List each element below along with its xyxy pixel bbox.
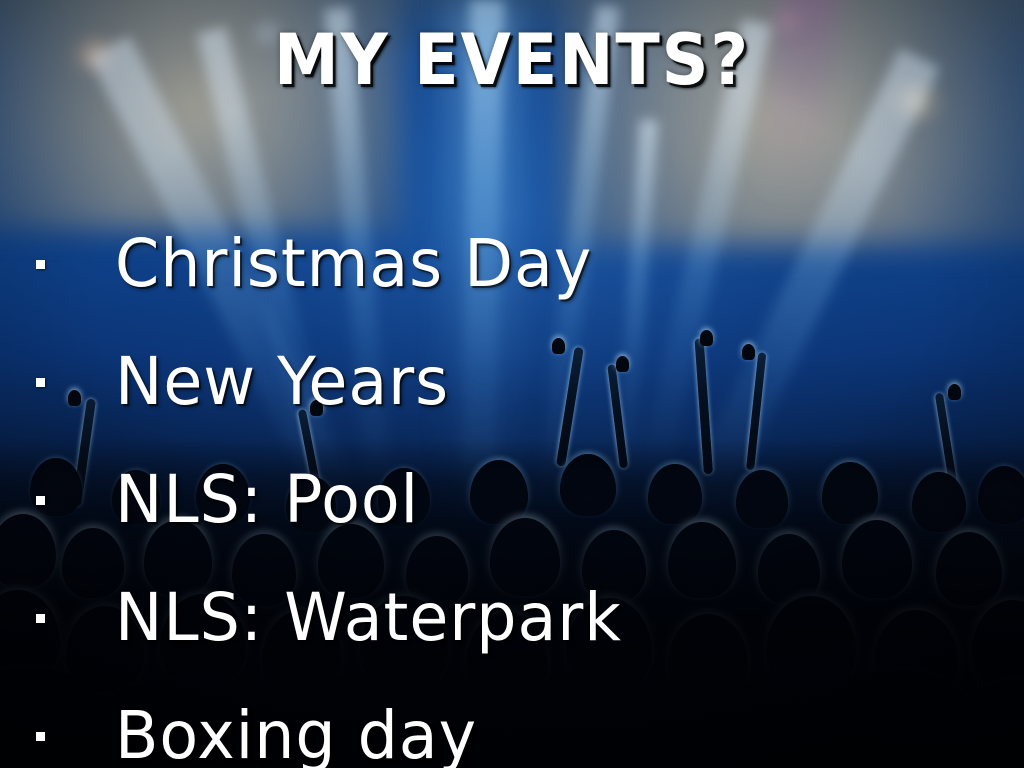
list-item-label: NLS: Waterpark — [115, 585, 622, 651]
presentation-slide: MY EVENTS? Christmas Day New Years NLS: … — [0, 0, 1024, 768]
list-item-label: NLS: Pool — [115, 467, 419, 533]
list-item-label: Boxing day — [115, 703, 477, 768]
slide-title: MY EVENTS? — [36, 19, 988, 101]
square-bullet-icon — [36, 260, 45, 269]
list-item: NLS: Pool — [0, 441, 1024, 559]
events-bullet-list: Christmas Day New Years NLS: Pool NLS: W… — [0, 205, 1024, 768]
slide-content: MY EVENTS? Christmas Day New Years NLS: … — [0, 0, 1024, 768]
list-item-label: Christmas Day — [115, 231, 592, 297]
square-bullet-icon — [36, 614, 45, 623]
list-item-label: New Years — [115, 349, 449, 415]
square-bullet-icon — [36, 378, 45, 387]
square-bullet-icon — [36, 732, 45, 741]
list-item: Christmas Day — [0, 205, 1024, 323]
list-item: NLS: Waterpark — [0, 559, 1024, 677]
list-item: New Years — [0, 323, 1024, 441]
list-item: Boxing day — [0, 677, 1024, 768]
square-bullet-icon — [36, 496, 45, 505]
